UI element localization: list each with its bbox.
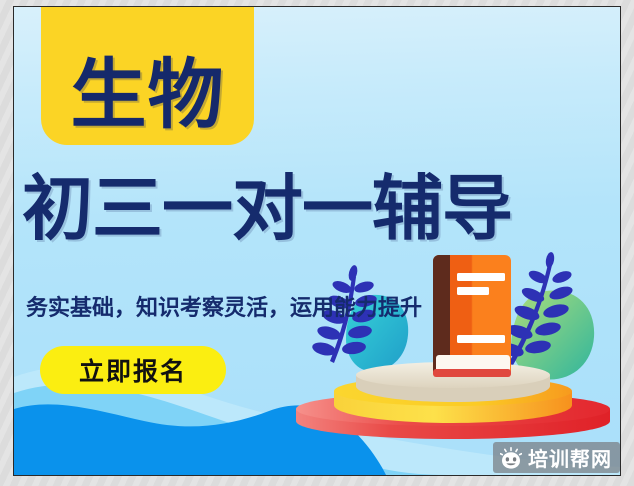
watermark-label: 培训帮网 (528, 443, 612, 472)
subject-badge: 生物 (41, 6, 254, 145)
subject-badge-label: 生物 (71, 57, 225, 133)
enroll-now-button[interactable]: 立即报名 (40, 346, 226, 394)
page-title: 初三一对一辅导 (22, 173, 614, 244)
watermark: 培训帮网 (493, 442, 620, 473)
smiley-sun-icon (500, 447, 522, 469)
promo-banner: 生物 初三一对一辅导 务实基础，知识考察灵活，运用能力提升 立即报名 (13, 6, 621, 476)
subtitle-text: 务实基础，知识考察灵活，运用能力提升 (26, 297, 422, 321)
orange-textbook (433, 255, 511, 377)
book-podium-illustration (284, 243, 621, 443)
screenshot-frame: 生物 初三一对一辅导 务实基础，知识考察灵活，运用能力提升 立即报名 (0, 0, 634, 486)
